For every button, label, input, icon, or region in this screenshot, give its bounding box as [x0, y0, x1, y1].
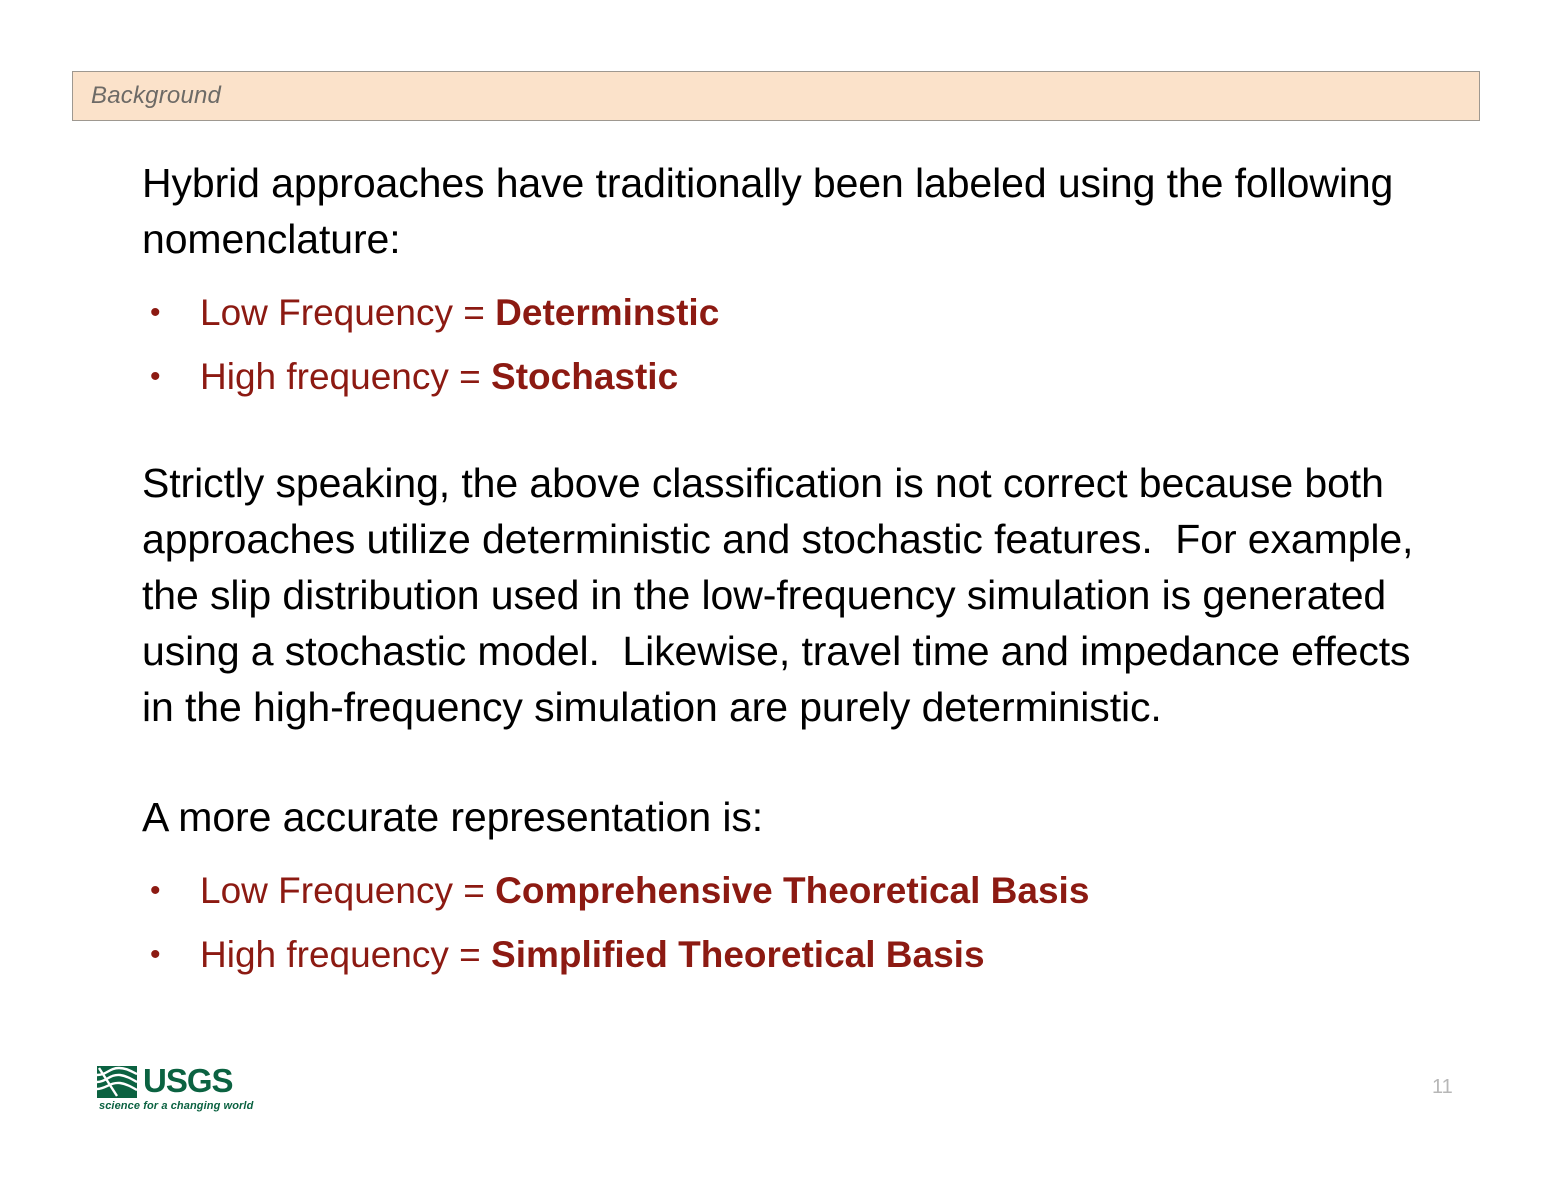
- bullet-dot-icon: •: [150, 345, 164, 409]
- spacer: [142, 409, 1442, 455]
- bullet-dot-icon: •: [150, 859, 164, 923]
- bullet-label: High frequency =: [200, 356, 491, 397]
- bullet-value: Determinstic: [495, 292, 719, 333]
- bullet-value: Simplified Theoretical Basis: [491, 934, 984, 975]
- spacer: [142, 845, 1442, 859]
- slide-canvas: Background Hybrid approaches have tradit…: [0, 0, 1552, 1199]
- usgs-wave-mark-icon: [97, 1066, 137, 1098]
- page-number: 11: [1432, 1076, 1453, 1099]
- bullet-dot-icon: •: [150, 281, 164, 345]
- bullet-value: Stochastic: [491, 356, 678, 397]
- list-item: • Low Frequency = Determinstic: [142, 281, 1442, 345]
- middle-paragraph: Strictly speaking, the above classificat…: [142, 455, 1442, 735]
- bullet-label: Low Frequency =: [200, 292, 495, 333]
- bullet-label: Low Frequency =: [200, 870, 495, 911]
- bullet-list-nomenclature: • Low Frequency = Determinstic • High fr…: [142, 281, 1442, 409]
- closing-lead-paragraph: A more accurate representation is:: [142, 789, 1442, 845]
- bullet-list-accurate: • Low Frequency = Comprehensive Theoreti…: [142, 859, 1442, 987]
- bullet-label: High frequency =: [200, 934, 491, 975]
- slide-body: Hybrid approaches have traditionally bee…: [142, 155, 1442, 987]
- bullet-dot-icon: •: [150, 923, 164, 987]
- slide-header-banner: Background: [72, 71, 1480, 121]
- intro-paragraph: Hybrid approaches have traditionally bee…: [142, 155, 1442, 267]
- list-item: • High frequency = Stochastic: [142, 345, 1442, 409]
- slide-header-title: Background: [91, 82, 221, 110]
- usgs-wordmark: USGS: [143, 1064, 233, 1098]
- spacer: [142, 267, 1442, 281]
- list-item: • Low Frequency = Comprehensive Theoreti…: [142, 859, 1442, 923]
- bullet-value: Comprehensive Theoretical Basis: [495, 870, 1089, 911]
- usgs-logo: USGS science for a changing world: [97, 1064, 227, 1122]
- usgs-tagline: science for a changing world: [99, 1100, 253, 1112]
- list-item: • High frequency = Simplified Theoretica…: [142, 923, 1442, 987]
- spacer: [142, 735, 1442, 789]
